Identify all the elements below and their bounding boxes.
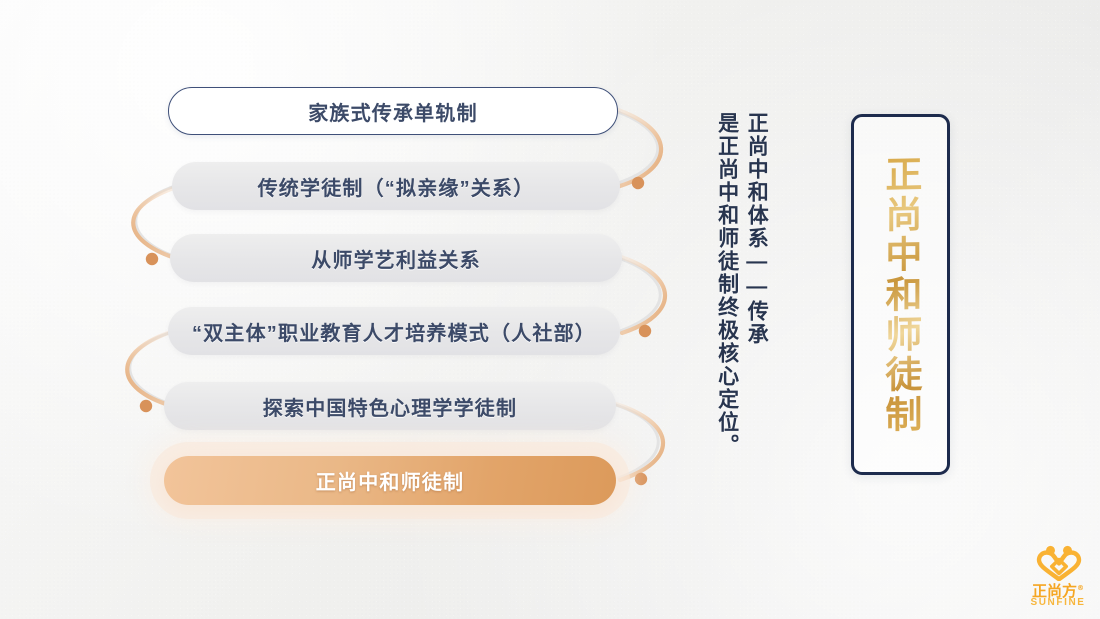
framed-title-text: 正尚中和师徒制 bbox=[876, 154, 925, 435]
timeline-item-1[interactable]: 家族式传承单轨制 bbox=[168, 87, 618, 135]
timeline-item-label: 传统学徒制（“拟亲缘”关系） bbox=[258, 172, 535, 201]
title-frame: 正尚中和师徒制 bbox=[851, 114, 950, 475]
timeline-item-3[interactable]: 从师学艺利益关系 bbox=[170, 234, 622, 282]
timeline-item-label: 正尚中和师徒制 bbox=[316, 466, 464, 495]
sunfine-logo-icon bbox=[1036, 545, 1082, 581]
timeline-item-4[interactable]: “双主体”职业教育人才培养模式（人社部） bbox=[168, 307, 620, 355]
timeline-item-label: 家族式传承单轨制 bbox=[308, 97, 478, 126]
registered-mark: ® bbox=[1077, 584, 1084, 592]
vertical-description: 正尚中和体系——传承 是正尚中和师徒制终极核心定位。 bbox=[714, 112, 769, 492]
sunfine-logo[interactable]: 正尚方® SUNFINE bbox=[1022, 545, 1094, 611]
timeline-item-5[interactable]: 探索中国特色心理学学徒制 bbox=[164, 382, 616, 430]
framed-title: 正尚中和师徒制 bbox=[854, 117, 947, 472]
description-column-left: 是正尚中和师徒制终极核心定位。 bbox=[714, 112, 740, 492]
timeline-item-label: “双主体”职业教育人才培养模式（人社部） bbox=[192, 317, 596, 346]
timeline-item-6[interactable]: 正尚中和师徒制 bbox=[164, 456, 616, 505]
slide-canvas: 家族式传承单轨制 传统学徒制（“拟亲缘”关系） 从师学艺利益关系 “双主体”职业… bbox=[0, 0, 1100, 619]
description-column-right: 正尚中和体系——传承 bbox=[744, 112, 770, 492]
timeline-item-label: 从师学艺利益关系 bbox=[311, 244, 481, 273]
logo-english-name: SUNFINE bbox=[1022, 597, 1094, 608]
timeline-item-label: 探索中国特色心理学学徒制 bbox=[263, 392, 517, 421]
timeline-item-2[interactable]: 传统学徒制（“拟亲缘”关系） bbox=[172, 162, 620, 210]
